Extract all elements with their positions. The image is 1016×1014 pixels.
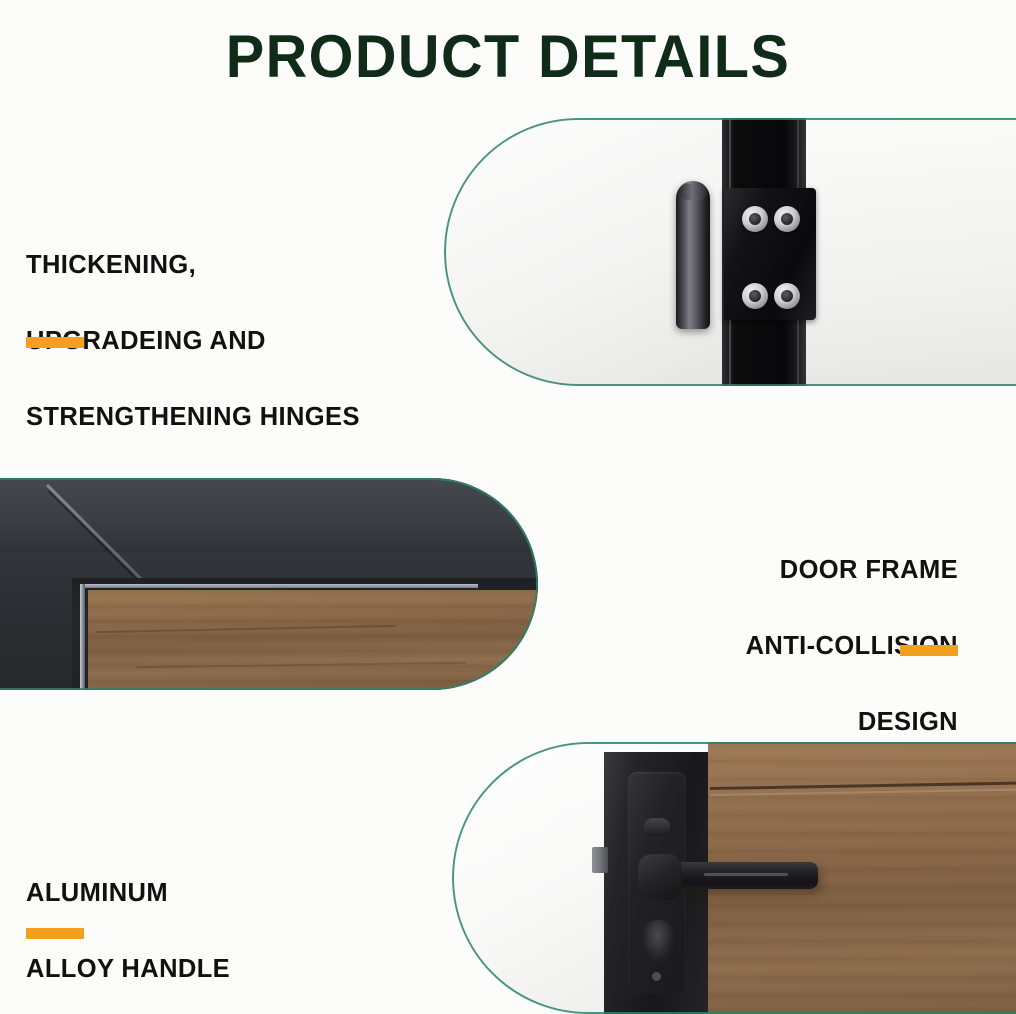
chrome-trim-horizontal — [80, 584, 478, 588]
caption-door-frame-line-1: DOOR FRAME — [746, 551, 958, 589]
caption-door-frame-line-3: DESIGN — [746, 703, 958, 741]
lock-indicator-dot — [652, 972, 661, 981]
caption-handle: ALUMINUM ALLOY HANDLE — [26, 836, 230, 1014]
aluminum-alloy-handle-photo — [452, 742, 1016, 1014]
lever-handle-groove — [704, 873, 788, 876]
hinge-screw-icon — [742, 206, 768, 232]
hinge-screw-icon — [742, 283, 768, 309]
product-details-infographic: PRODUCT DETAILS THICKENING, UPGRADEING A… — [0, 0, 1016, 1014]
chrome-trim-vertical — [80, 584, 85, 690]
hinge-screw-icon — [774, 283, 800, 309]
hinge-pin — [676, 181, 710, 329]
caption-hinges-line-3: STRENGTHENING HINGES — [26, 398, 360, 436]
keyhole-cylinder — [642, 920, 676, 964]
lever-handle-base — [638, 854, 682, 900]
wood-panel — [88, 590, 538, 690]
caption-hinges-line-1: THICKENING, — [26, 246, 360, 284]
hinge-plate — [724, 188, 816, 320]
accent-bar-door-frame — [900, 645, 958, 656]
door-frame-corner-photo — [0, 478, 538, 690]
accent-bar-handle — [26, 928, 84, 939]
thumb-turn-knob — [644, 818, 670, 836]
door-leaf-right — [804, 118, 1016, 386]
page-title: PRODUCT DETAILS — [20, 22, 995, 91]
hinge-closeup-photo — [444, 118, 1016, 386]
caption-handle-line-2: ALLOY HANDLE — [26, 950, 230, 988]
latch-bolt — [592, 847, 608, 873]
frame-top-bevel — [0, 478, 538, 552]
white-background-zone — [452, 742, 606, 1014]
caption-handle-line-1: ALUMINUM — [26, 874, 230, 912]
hinge-screw-icon — [774, 206, 800, 232]
accent-bar-hinges — [26, 337, 84, 348]
